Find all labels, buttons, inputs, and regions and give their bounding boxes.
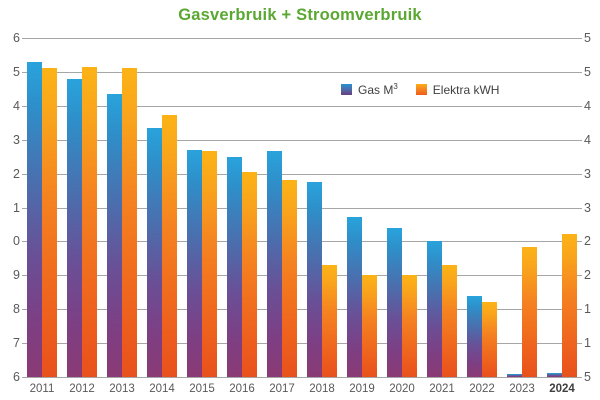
y-tick-right: 5: [584, 32, 600, 45]
bar-elektra[interactable]: [562, 234, 577, 377]
legend-label-gas-sup: 3: [393, 82, 397, 91]
bar-elektra[interactable]: [122, 68, 137, 378]
y-tick-right: 3: [584, 168, 600, 181]
bar-group: [22, 38, 62, 377]
y-tick-right: 4: [584, 100, 600, 113]
bar-elektra[interactable]: [282, 180, 297, 377]
bar-gas[interactable]: [27, 62, 42, 377]
x-axis-label-2016: 2016: [222, 380, 262, 398]
y-tick-left: 3: [2, 134, 20, 147]
gas-swatch-icon: [341, 84, 352, 95]
bar-group: [222, 38, 262, 377]
x-axis-label-2024: 2024: [542, 380, 582, 398]
bar-elektra[interactable]: [482, 302, 497, 377]
bar-group: [62, 38, 102, 377]
y-tick-left: 2: [2, 168, 20, 181]
y-tick-left: 0: [2, 235, 20, 248]
y-tick-right: 2: [584, 235, 600, 248]
legend-label-gas: Gas M3: [358, 82, 398, 97]
bar-gas[interactable]: [147, 128, 162, 377]
bar-gas[interactable]: [67, 79, 82, 377]
y-tick-left: 4: [2, 100, 20, 113]
bar-gas[interactable]: [347, 217, 362, 377]
x-axis-label-2018: 2018: [302, 380, 342, 398]
bar-elektra[interactable]: [42, 68, 57, 377]
y-tick-left: 6: [2, 371, 20, 384]
x-axis-label-2020: 2020: [382, 380, 422, 398]
x-axis-label-2013: 2013: [102, 380, 142, 398]
x-axis-label-2023: 2023: [502, 380, 542, 398]
x-axis-label-2012: 2012: [62, 380, 102, 398]
chart-title: Gasverbruik + Stroomverbruik: [0, 6, 600, 25]
bar-elektra[interactable]: [442, 265, 457, 377]
chart-container: Gasverbruik + Stroomverbruik 65432109876…: [0, 0, 600, 400]
bar-group: [102, 38, 142, 377]
bar-elektra[interactable]: [162, 115, 177, 377]
y-tick-right: 1: [584, 337, 600, 350]
gridline: [22, 377, 582, 378]
x-axis-label-2011: 2011: [22, 380, 62, 398]
y-tick-right: 4: [584, 134, 600, 147]
legend-item-gas[interactable]: Gas M3: [341, 82, 398, 97]
y-tick-right: 5: [584, 66, 600, 79]
bar-group: [182, 38, 222, 377]
bar-gas[interactable]: [187, 150, 202, 377]
y-tick-left: 5: [2, 66, 20, 79]
bar-elektra[interactable]: [362, 275, 377, 377]
bar-group: [542, 38, 582, 377]
bar-gas[interactable]: [547, 373, 562, 377]
bar-gas[interactable]: [307, 182, 322, 377]
y-tick-left: 1: [2, 202, 20, 215]
legend-item-elektra[interactable]: Elektra kWH: [416, 83, 500, 97]
bar-elektra[interactable]: [522, 247, 537, 377]
bar-elektra[interactable]: [82, 67, 97, 377]
y-tick-left: 6: [2, 32, 20, 45]
bar-elektra[interactable]: [202, 151, 217, 377]
x-axis-label-2014: 2014: [142, 380, 182, 398]
y-tick-right: 1: [584, 303, 600, 316]
bar-gas[interactable]: [267, 151, 282, 377]
y-tick-left: 8: [2, 303, 20, 316]
y-tick-right: 5: [584, 371, 600, 384]
y-tick-right: 3: [584, 202, 600, 215]
bar-group: [502, 38, 542, 377]
bar-elektra[interactable]: [322, 265, 337, 377]
bar-elektra[interactable]: [242, 172, 257, 377]
chart-legend: Gas M3 Elektra kWH: [335, 80, 505, 99]
bar-elektra[interactable]: [402, 275, 417, 377]
legend-label-gas-text: Gas M: [358, 83, 393, 97]
bar-gas[interactable]: [387, 228, 402, 377]
legend-label-elektra: Elektra kWH: [433, 83, 500, 97]
elektra-swatch-icon: [416, 84, 427, 95]
bar-group: [262, 38, 302, 377]
bar-gas[interactable]: [427, 241, 442, 377]
bar-gas[interactable]: [467, 296, 482, 377]
y-tick-left: 7: [2, 337, 20, 350]
bar-group: [142, 38, 182, 377]
y-tick-right: 2: [584, 269, 600, 282]
bar-gas[interactable]: [107, 94, 122, 377]
x-axis-labels: 2011201220132014201520162017201820192020…: [22, 380, 582, 398]
x-axis-label-2019: 2019: [342, 380, 382, 398]
y-tick-left: 9: [2, 269, 20, 282]
x-axis-label-2017: 2017: [262, 380, 302, 398]
bar-gas[interactable]: [507, 374, 522, 377]
x-axis-label-2021: 2021: [422, 380, 462, 398]
bar-gas[interactable]: [227, 157, 242, 377]
x-axis-label-2022: 2022: [462, 380, 502, 398]
x-axis-label-2015: 2015: [182, 380, 222, 398]
